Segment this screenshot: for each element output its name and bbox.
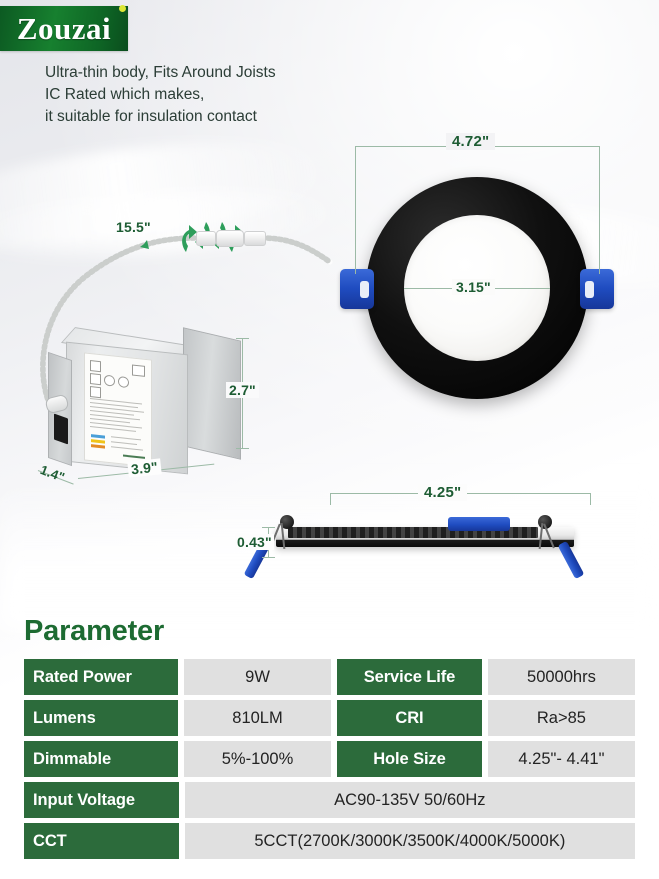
dimension-cable-length: 15.5" xyxy=(116,219,151,235)
table-row: Lumens 810LM CRI Ra>85 xyxy=(24,700,635,736)
param-key: Lumens xyxy=(24,700,178,736)
connector-segment xyxy=(196,231,216,246)
mounting-clip-left xyxy=(340,269,374,309)
headline-text: Ultra-thin body, Fits Around Joists IC R… xyxy=(45,62,276,128)
cable-length-arrow-icon xyxy=(136,236,149,249)
product-infographic: Zouzai Ultra-thin body, Fits Around Jois… xyxy=(0,0,659,879)
param-value: 810LM xyxy=(184,700,331,736)
table-row: Rated Power 9W Service Life 50000hrs xyxy=(24,659,635,695)
brand-logo-text: Zouzai xyxy=(17,13,111,44)
param-value: 4.25"- 4.41" xyxy=(488,741,635,777)
param-value: Ra>85 xyxy=(488,700,635,736)
dimension-tick xyxy=(355,146,356,274)
dimension-tick xyxy=(236,338,249,339)
driver-junction-box xyxy=(48,330,228,470)
param-value: 5%-100% xyxy=(184,741,331,777)
table-row: Dimmable 5%-100% Hole Size 4.25"- 4.41" xyxy=(24,741,635,777)
dimension-tick xyxy=(599,146,600,274)
parameter-table: Rated Power 9W Service Life 50000hrs Lum… xyxy=(24,659,635,864)
param-key: Hole Size xyxy=(337,741,482,777)
dimension-lens-diameter: 3.15" xyxy=(452,279,495,295)
param-key: Input Voltage xyxy=(24,782,179,818)
background-swoosh xyxy=(0,182,342,268)
param-value: 50000hrs xyxy=(488,659,635,695)
param-key: CRI xyxy=(337,700,482,736)
brand-logo: Zouzai xyxy=(0,6,128,51)
dimension-driver-height: 2.7" xyxy=(226,382,259,398)
dimension-outer-diameter: 4.72" xyxy=(446,133,495,150)
param-value: AC90-135V 50/60Hz xyxy=(185,782,635,818)
dimension-tick xyxy=(590,493,591,505)
driver-box-knockout xyxy=(54,414,68,445)
driver-box-label xyxy=(84,352,152,467)
table-row: CCT 5CCT(2700K/3000K/3500K/4000K/5000K) xyxy=(24,823,635,859)
param-value: 9W xyxy=(184,659,331,695)
param-key: Rated Power xyxy=(24,659,178,695)
connector-body xyxy=(216,230,244,247)
param-key: CCT xyxy=(24,823,179,859)
param-key: Service Life xyxy=(337,659,482,695)
profile-blue-bracket xyxy=(448,517,510,531)
mounting-clip-right xyxy=(580,269,614,309)
dimension-profile-width: 4.25" xyxy=(418,484,467,501)
background-swoosh xyxy=(0,125,334,266)
parameter-section-title: Parameter xyxy=(24,615,164,648)
logo-dot-icon xyxy=(119,5,126,12)
dimension-profile-thickness: 0.43" xyxy=(235,534,274,550)
param-value: 5CCT(2700K/3000K/3500K/4000K/5000K) xyxy=(185,823,635,859)
dimension-tick xyxy=(330,493,331,505)
param-key: Dimmable xyxy=(24,741,178,777)
downlight-side-profile-view xyxy=(248,505,618,585)
connector-segment xyxy=(244,231,266,246)
dimension-driver-width: 3.9" xyxy=(127,458,161,477)
table-row: Input Voltage AC90-135V 50/60Hz xyxy=(24,782,635,818)
